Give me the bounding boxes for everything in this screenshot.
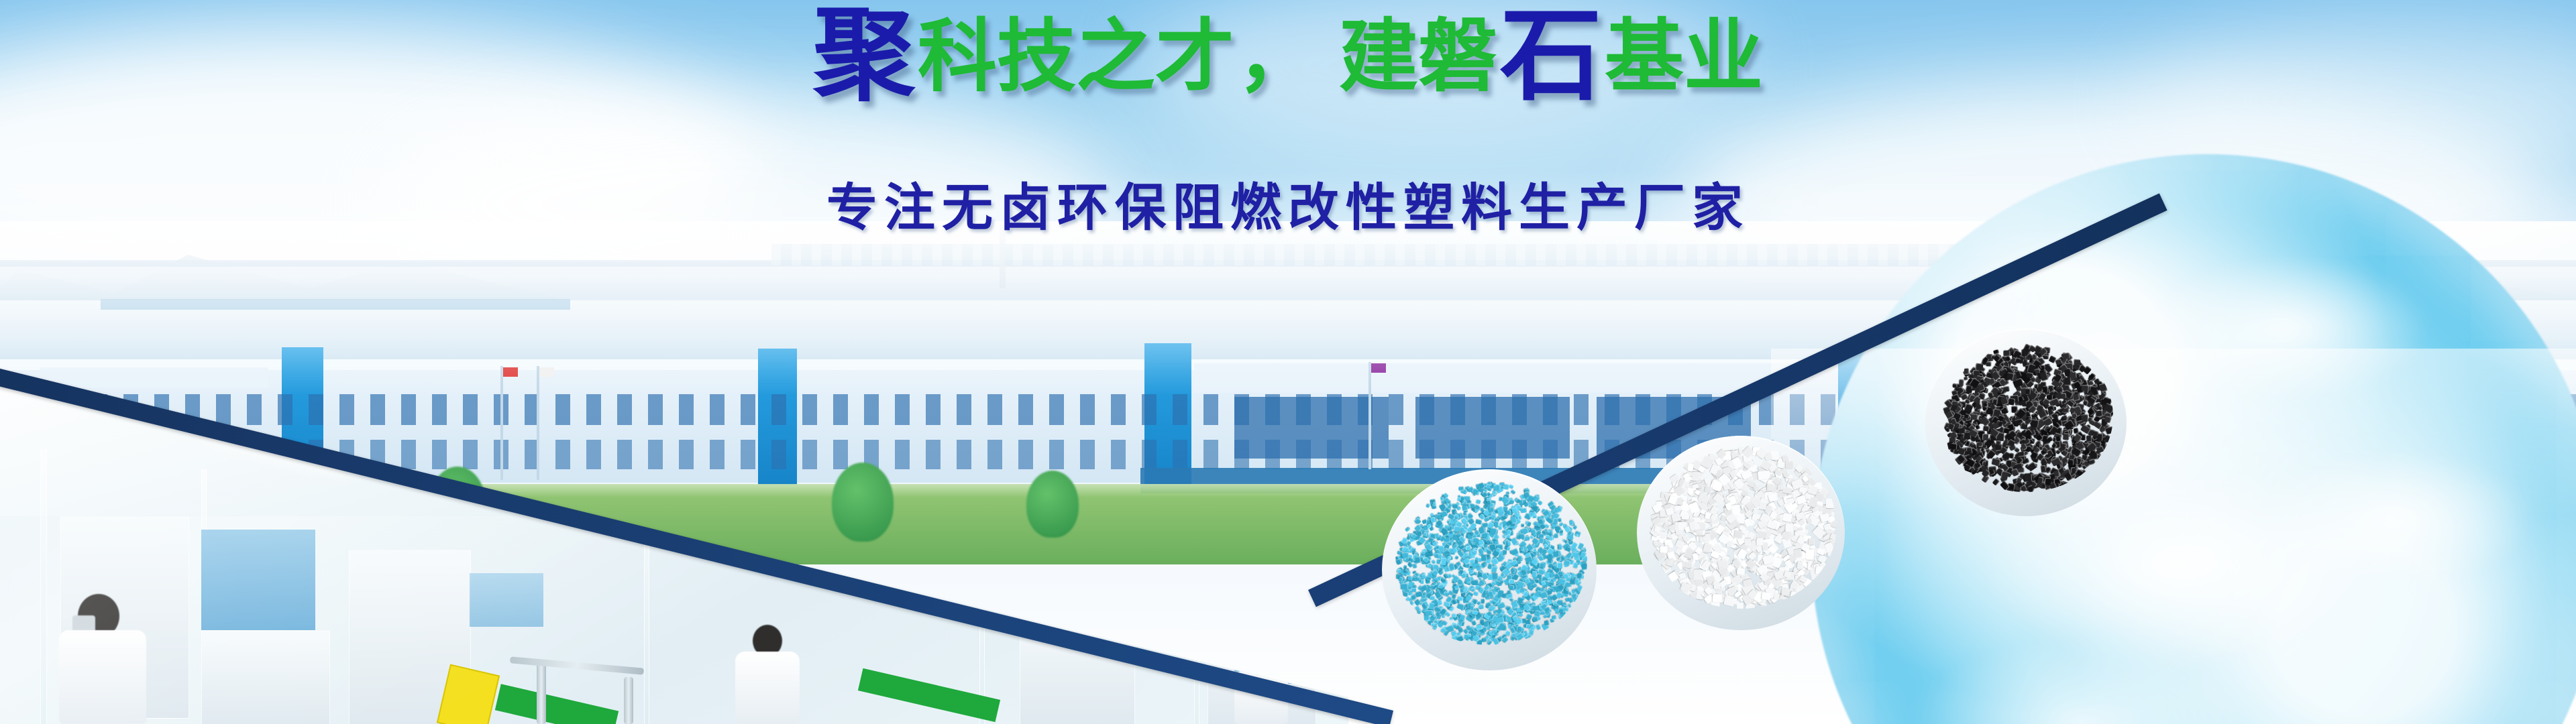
pellet [2026, 372, 2033, 378]
pellet [1440, 510, 1448, 518]
pellet [1959, 379, 1964, 385]
pellet [2003, 351, 2010, 357]
pellet [1490, 527, 1497, 534]
headline-accent-shi: 石 [1500, 5, 1602, 107]
pellet [1777, 461, 1784, 468]
pellet [2009, 452, 2014, 459]
pellet [1456, 497, 1460, 501]
pellet [2053, 470, 2060, 477]
pellet [1502, 550, 1507, 554]
pellet [2063, 433, 2070, 440]
pellet [2096, 411, 2102, 418]
pellet [1458, 487, 1464, 491]
pellet [1581, 564, 1587, 570]
pellet [1470, 605, 1474, 610]
pellet [2074, 359, 2081, 366]
pellet [1976, 363, 1984, 371]
pellet [1572, 525, 1578, 530]
pellet [2008, 398, 2015, 406]
pellet [1499, 522, 1503, 526]
pellet [1758, 471, 1769, 481]
pellet [1782, 589, 1789, 596]
pellet [1992, 458, 2000, 466]
pellet [1966, 440, 1970, 445]
pellet [1785, 524, 1792, 532]
pellet [2018, 467, 2025, 473]
hero-banner: 聚 科技之才 ， 建磐 石 基业 专注无卤环保阻燃改性塑料生产厂家 [0, 0, 2576, 724]
pellet [1472, 580, 1479, 586]
pellet [2043, 385, 2048, 393]
pellet [1565, 607, 1569, 611]
black-pellets-dish [1925, 328, 2127, 516]
pellet [1532, 571, 1537, 577]
pellet [1826, 499, 1835, 508]
pellet [1526, 521, 1531, 526]
pellet [1426, 503, 1430, 508]
pellet [1532, 616, 1538, 621]
pellet [1531, 605, 1537, 610]
pellet [1494, 540, 1499, 545]
pellet [2069, 459, 2074, 465]
pellet [2045, 478, 2051, 485]
pellet [1681, 514, 1689, 520]
pellet [1510, 489, 1515, 494]
pellet [1409, 601, 1415, 606]
pellet [1558, 530, 1563, 534]
pellet [1481, 555, 1487, 562]
pellet [1504, 484, 1509, 490]
headline-green-jiye: 基业 [1605, 18, 1763, 97]
pellet [1806, 550, 1815, 560]
pellet [1462, 505, 1468, 511]
pellet [1982, 433, 1988, 440]
pellet [2097, 433, 2103, 441]
pellet [1996, 440, 2001, 446]
pellet [1745, 538, 1751, 545]
pellet [1521, 523, 1525, 526]
white-pellets-dish [1637, 436, 1845, 630]
pellet [1777, 485, 1782, 491]
pellet [1554, 552, 1560, 558]
pellet [1491, 623, 1495, 626]
pellet [1951, 442, 1957, 449]
pellet [2073, 394, 2080, 401]
pellet [1552, 616, 1557, 621]
pellet [1674, 505, 1680, 511]
pellet [1430, 517, 1436, 523]
pellet [1767, 484, 1774, 491]
pellet [1433, 623, 1437, 627]
headline-green-keji: 科技之才 [918, 18, 1234, 97]
pellet [1558, 544, 1562, 550]
pellet [1534, 610, 1541, 616]
pellet [1966, 446, 1971, 452]
pellet [1507, 540, 1511, 546]
pellet [2090, 452, 2098, 460]
pellet [1454, 599, 1458, 604]
pellet [1713, 594, 1723, 603]
pellet [1427, 572, 1432, 578]
pellet [1444, 601, 1451, 607]
pellet [1453, 526, 1460, 532]
pellet [1520, 534, 1525, 538]
pellet [2055, 436, 2061, 442]
pellet [1518, 555, 1522, 560]
pellet [2104, 416, 2112, 423]
banner-headline: 聚 科技之才 ， 建磐 石 基业 [0, 5, 2576, 107]
pellet [1737, 567, 1745, 575]
pellet [2025, 388, 2031, 394]
pellet [1417, 530, 1421, 536]
pellet [1401, 583, 1409, 589]
pellet [1538, 573, 1543, 578]
pellet [2006, 372, 2015, 380]
pellet [1734, 530, 1743, 538]
pellet [2063, 353, 2070, 359]
pellet [2031, 419, 2039, 427]
pellet [1471, 620, 1477, 625]
headline-green-jianpan: 建磐 [1339, 18, 1497, 97]
pellet [2041, 465, 2046, 472]
pellet [1455, 556, 1460, 560]
pellet [1494, 521, 1499, 526]
pellet [1724, 597, 1735, 607]
pellet [1713, 581, 1720, 589]
pellet [1554, 534, 1558, 538]
pellet [1482, 626, 1487, 632]
pellet [2041, 485, 2046, 489]
pellet [1413, 563, 1417, 568]
pellet [1677, 497, 1683, 505]
pellet [2064, 377, 2071, 385]
pellet [2070, 467, 2076, 473]
pellet [1504, 513, 1509, 518]
pellet [1493, 490, 1497, 495]
pellet [1516, 626, 1521, 631]
pellet [2082, 414, 2088, 422]
pellet [1757, 538, 1764, 546]
pellet [1521, 507, 1527, 513]
pellet [1704, 487, 1712, 493]
pellet [1992, 479, 2000, 486]
pellet [1704, 534, 1710, 539]
pellet [1524, 536, 1529, 540]
pellet [1452, 613, 1456, 617]
pellet [2082, 385, 2089, 391]
pellet [1762, 592, 1771, 600]
pellet [1421, 579, 1424, 584]
pellet [1572, 562, 1578, 568]
pellet [1794, 548, 1803, 558]
pellet [1972, 414, 1978, 420]
pellet [1466, 546, 1470, 550]
pellet [2105, 426, 2113, 434]
pellet [1481, 598, 1485, 603]
pellet [1570, 579, 1576, 585]
pellet [1422, 532, 1427, 537]
pellet [1964, 369, 1969, 375]
pellet [1511, 507, 1517, 513]
pellet [1405, 527, 1411, 532]
headline-comma: ， [1237, 18, 1316, 97]
pellet [1476, 624, 1483, 629]
pellet [1475, 499, 1481, 504]
pellet [1575, 578, 1579, 583]
pellet [1694, 569, 1703, 580]
pellet [1808, 538, 1814, 544]
pellet [1415, 557, 1421, 563]
pellet [2060, 393, 2066, 398]
pellet [1785, 461, 1794, 469]
pellet [2003, 386, 2010, 392]
pellet [1497, 616, 1504, 623]
pellet [2043, 355, 2049, 359]
pellet [1771, 451, 1779, 460]
blue-pellets-dish [1382, 469, 1597, 670]
pellet [1401, 552, 1409, 558]
pellet [1395, 558, 1402, 565]
pellet [1692, 472, 1700, 480]
pellet [1660, 546, 1668, 552]
banner-subtitle: 专注无卤环保阻燃改性塑料生产厂家 [0, 166, 2576, 240]
pellet [1575, 534, 1578, 537]
pellet [1411, 587, 1416, 591]
headline-accent-ju: 聚 [813, 5, 915, 107]
pellet [2000, 471, 2008, 480]
pellet [1737, 603, 1744, 609]
pellet [1568, 520, 1573, 526]
